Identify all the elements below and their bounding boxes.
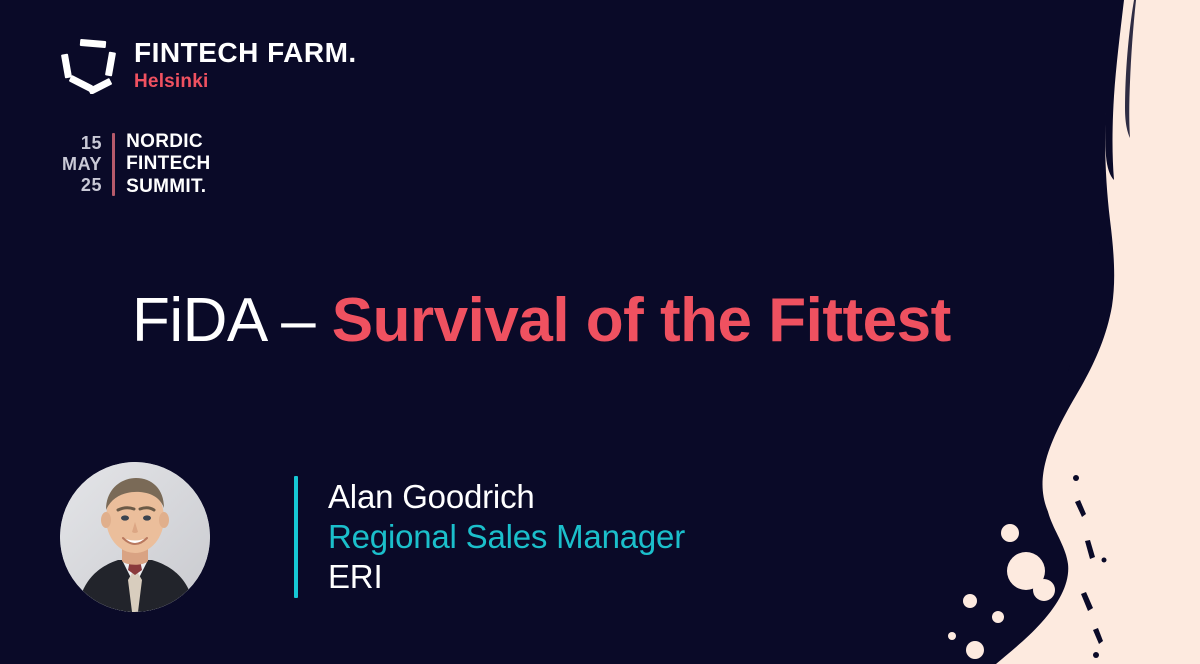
- event-name-line-3: SUMMIT.: [126, 176, 210, 198]
- speaker-details: Alan Goodrich Regional Sales Manager ERI: [328, 477, 685, 598]
- event-day: 15: [81, 133, 102, 154]
- speaker-accent-bar: [294, 476, 298, 598]
- speaker-name: Alan Goodrich: [328, 477, 685, 517]
- pentagon-dashes-icon: [60, 38, 118, 94]
- event-month: MAY: [62, 154, 102, 175]
- brand-city: Helsinki: [134, 71, 357, 93]
- event-name-line-1: NORDIC: [126, 131, 210, 153]
- fintech-farm-logo: FINTECH FARM. Helsinki: [60, 38, 357, 94]
- brand-name: FINTECH FARM.: [134, 39, 357, 68]
- speaker-role: Regional Sales Manager: [328, 517, 685, 557]
- event-date: 15 MAY 25: [62, 131, 112, 198]
- slide-title-accent: Survival of the Fittest: [332, 286, 951, 355]
- presentation-slide: FINTECH FARM. Helsinki 15 MAY 25 NORDIC …: [0, 0, 1200, 664]
- nordic-fintech-summit-logo: 15 MAY 25 NORDIC FINTECH SUMMIT.: [62, 131, 211, 198]
- avatar: [60, 462, 210, 612]
- slide-title-lead: FiDA –: [132, 286, 332, 355]
- speaker-block: Alan Goodrich Regional Sales Manager ERI: [60, 462, 685, 612]
- speaker-portrait: [60, 462, 210, 612]
- fintech-farm-wordmark: FINTECH FARM. Helsinki: [134, 39, 357, 92]
- slide-title: FiDA – Survival of the Fittest: [132, 288, 1132, 353]
- event-name-line-2: FINTECH: [126, 153, 210, 175]
- speaker-organization: ERI: [328, 557, 685, 597]
- event-year: 25: [81, 175, 102, 196]
- event-name: NORDIC FINTECH SUMMIT.: [115, 131, 210, 198]
